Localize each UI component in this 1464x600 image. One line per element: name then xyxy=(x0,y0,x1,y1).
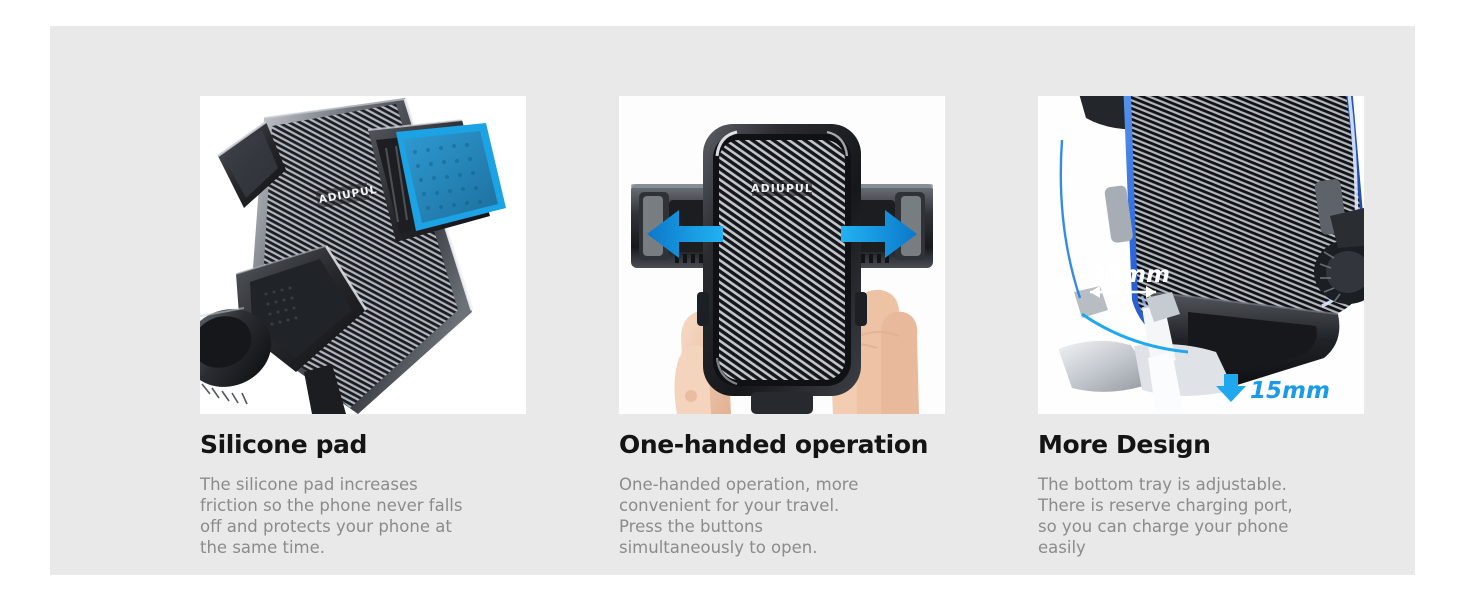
feature-title: One-handed operation xyxy=(619,431,945,459)
width-callout-label: 20mm xyxy=(1090,262,1170,288)
feature-title: More Design xyxy=(1038,431,1364,459)
brand-logo: ADIUPUL xyxy=(751,180,813,196)
feature-card-one-handed-operation: ADIUPUL One-handed operation One-handed … xyxy=(619,96,945,558)
feature-image-silicone-pad: ADIUPUL xyxy=(200,96,526,414)
depth-callout: 15mm xyxy=(1216,374,1330,404)
feature-card-silicone-pad: ADIUPUL xyxy=(200,96,526,558)
feature-description: The silicone pad increases friction so t… xyxy=(200,474,526,558)
feature-row: ADIUPUL xyxy=(200,96,1365,558)
mount-frame xyxy=(697,124,867,414)
depth-callout-label: 15mm xyxy=(1250,378,1330,404)
product-feature-page: ADIUPUL xyxy=(0,0,1464,600)
feature-description: The bottom tray is adjustable. There is … xyxy=(1038,474,1364,558)
feature-title: Silicone pad xyxy=(200,431,526,459)
feature-description: One-handed operation, more convenient fo… xyxy=(619,474,945,558)
svg-text:ADIUPUL: ADIUPUL xyxy=(751,182,813,195)
feature-image-one-handed-operation: ADIUPUL xyxy=(619,96,945,414)
feature-board: ADIUPUL xyxy=(50,26,1415,575)
feature-card-more-design: 20mm 15mm More Design The bottom tray is… xyxy=(1038,96,1364,558)
feature-image-more-design: 20mm 15mm xyxy=(1038,96,1364,414)
